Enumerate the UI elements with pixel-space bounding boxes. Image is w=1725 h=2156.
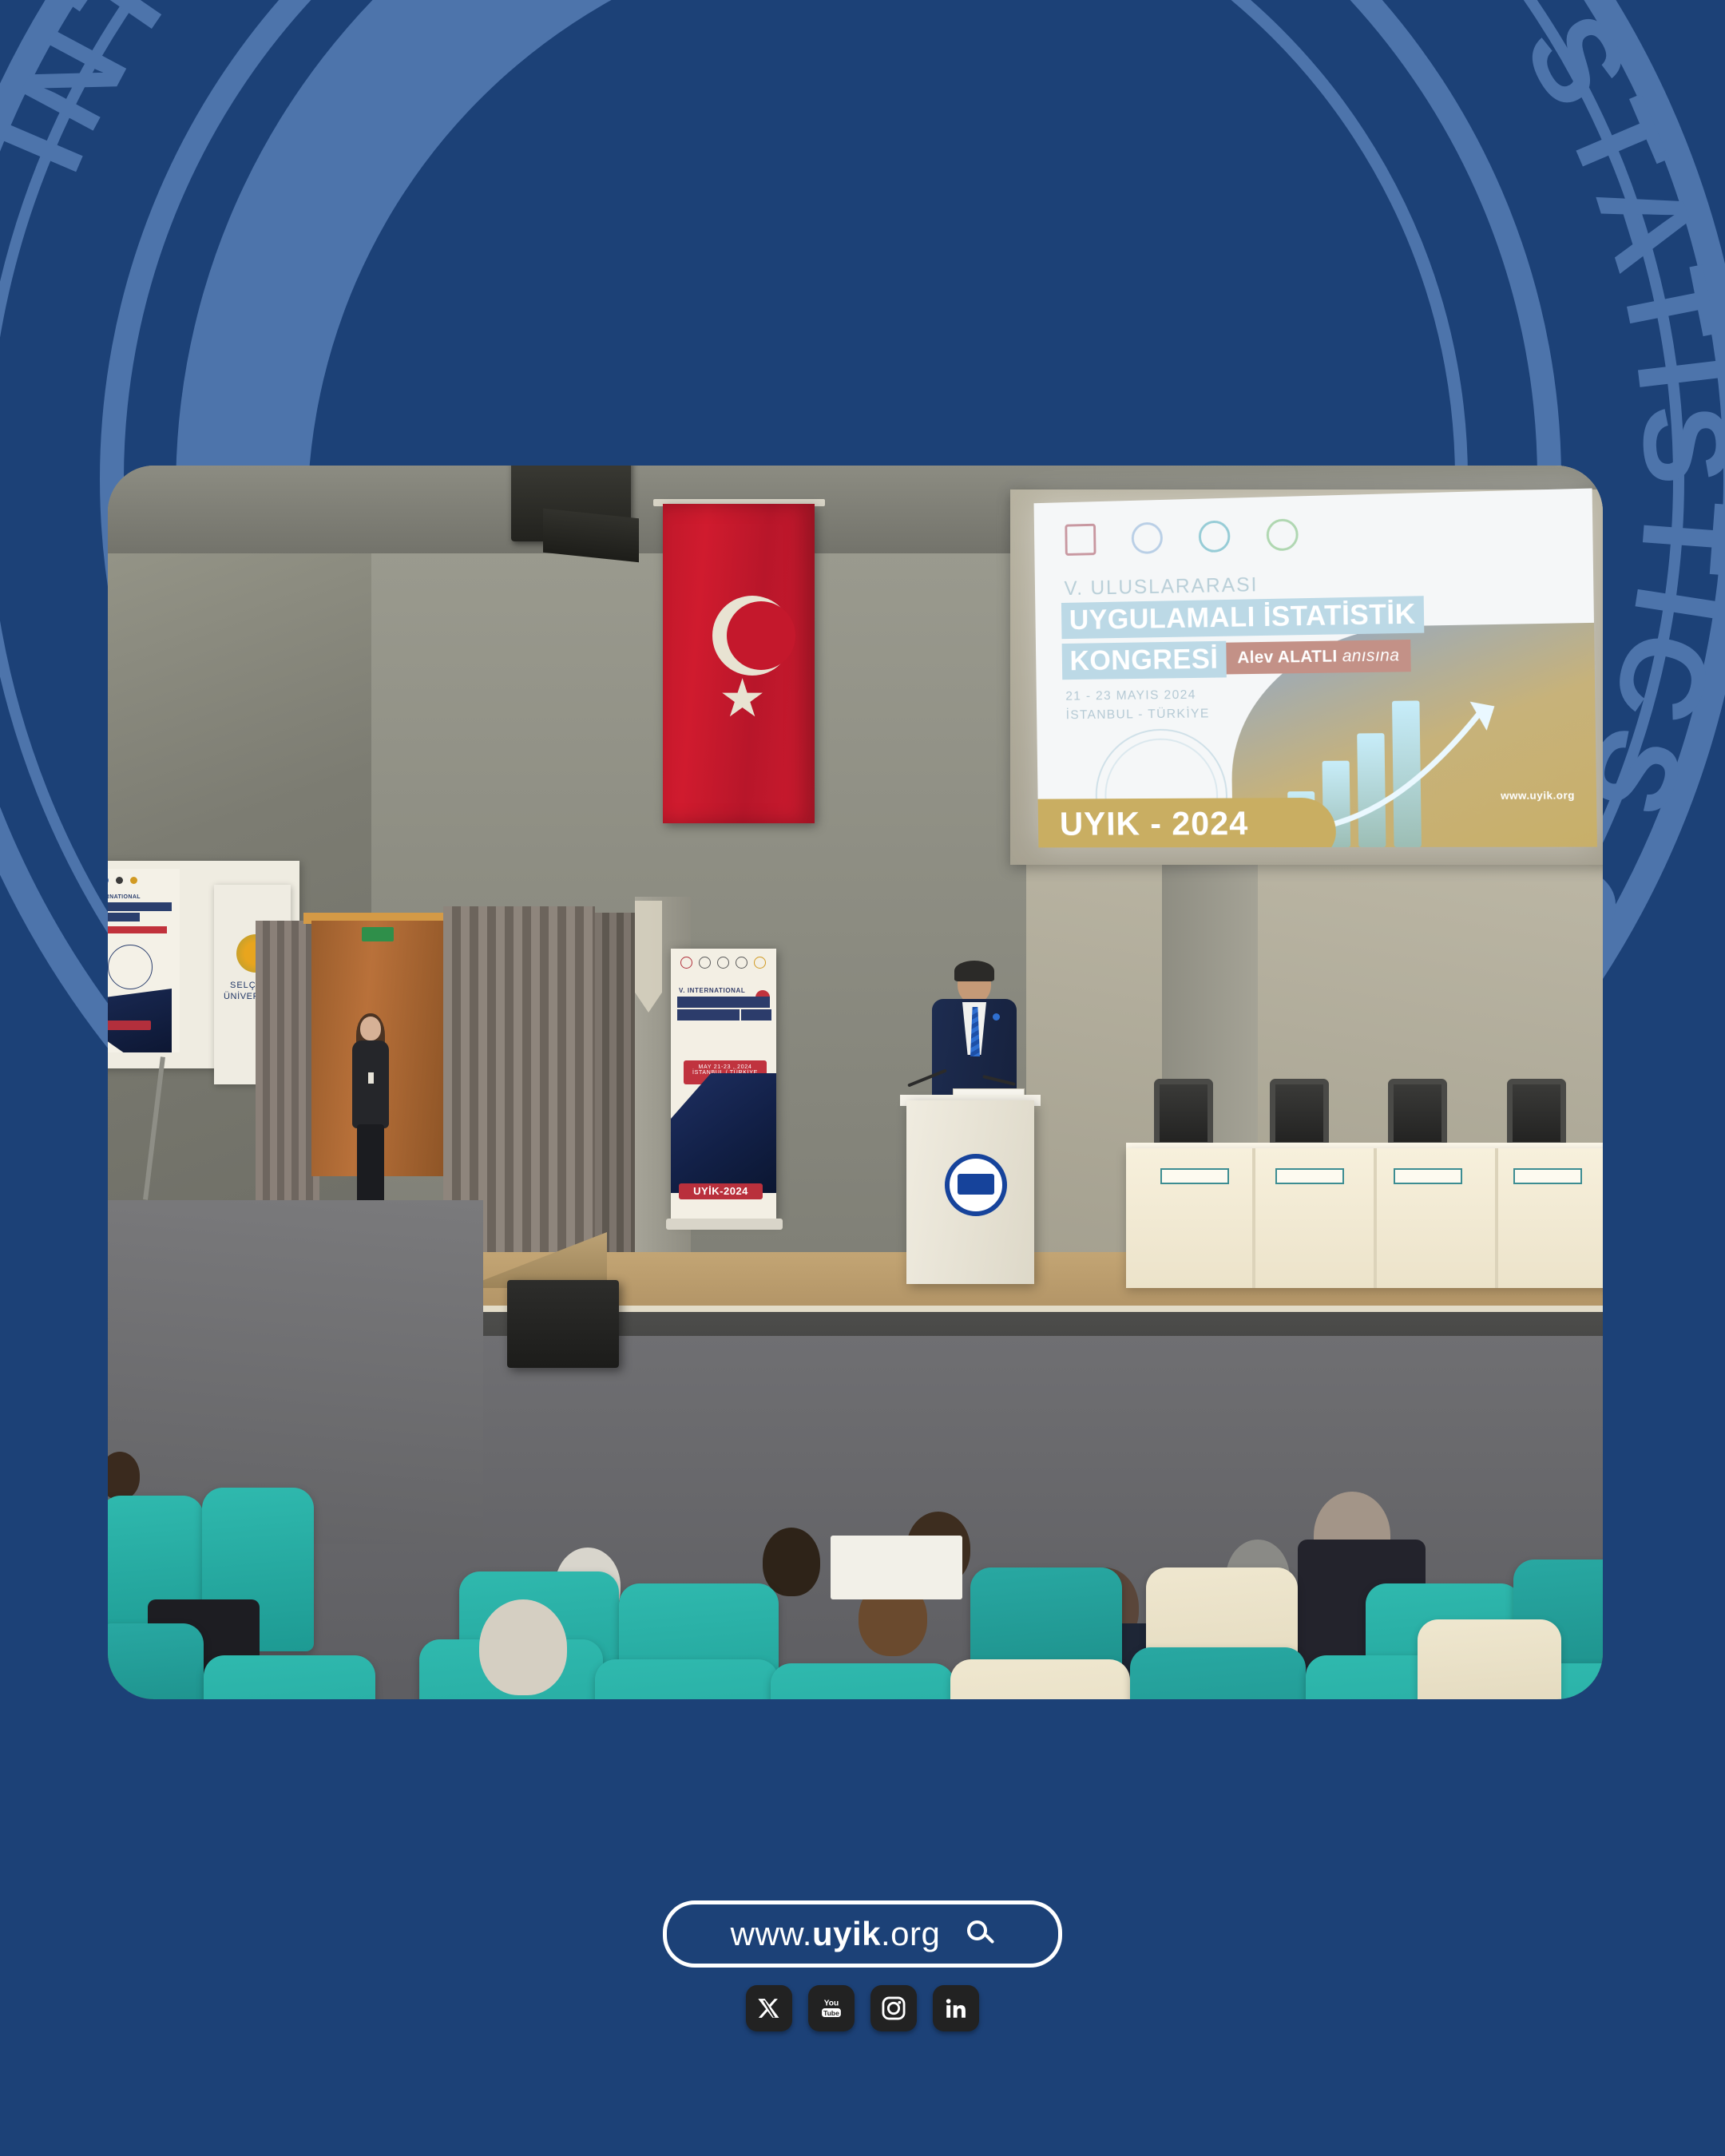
audience-head (507, 1583, 523, 1599)
audience-chair (950, 1659, 1130, 1699)
instagram-icon (881, 1995, 906, 2021)
sponsor-logo-2-icon (1132, 522, 1164, 554)
slide-memorial-bold: Alev ALATLI (1237, 647, 1338, 667)
social-links: You Tube (719, 1985, 1006, 2031)
slide-sponsor-logos (1065, 518, 1299, 556)
audience-head (479, 1599, 567, 1695)
sponsor-logo-1-icon (1065, 524, 1096, 556)
panel-nameplate-4 (1513, 1168, 1582, 1184)
congress-photo: ★ V. ULUSLARARASI UYGULAMALI İSTATİSTİK … (108, 466, 1603, 1699)
rollup-center-memorial (741, 1009, 771, 1021)
rollup-left-title1-bar (108, 902, 172, 911)
flag-crescent-inner (727, 601, 795, 670)
panel-nameplate-1 (1160, 1168, 1229, 1184)
page-footer: www.uyik.org You Tube (0, 1900, 1725, 2031)
social-link-x[interactable] (746, 1985, 792, 2031)
audience-chair (108, 1623, 204, 1699)
url-suffix: .org (881, 1915, 940, 1952)
panel-chair-2 (1270, 1079, 1329, 1147)
panel-divider-3 (1495, 1148, 1498, 1288)
social-link-linkedin[interactable] (933, 1985, 979, 2031)
youtube-icon: You Tube (818, 1995, 845, 2021)
social-link-youtube[interactable]: You Tube (808, 1985, 855, 2031)
speaker-lapel-pin-icon (993, 1013, 1000, 1021)
svg-text:Tube: Tube (823, 2009, 839, 2017)
url-brand: uyik (812, 1915, 881, 1952)
rollup-banner-center: V. INTERNATIONAL MAY 21-23 , 2024 İSTANB… (671, 949, 776, 1220)
projected-slide: V. ULUSLARARASI UYGULAMALI İSTATİSTİK KO… (1034, 489, 1597, 848)
search-icon[interactable] (967, 1920, 994, 1948)
url-prefix: www. (731, 1915, 812, 1952)
panel-divider-2 (1374, 1148, 1377, 1288)
audience-chair (1418, 1619, 1561, 1699)
slide-title-line1: UYGULAMALI İSTATİSTİK (1061, 596, 1424, 639)
website-url-text: www.uyik.org (731, 1915, 941, 1953)
audience-chair (771, 1663, 954, 1699)
exit-sign-icon (362, 927, 394, 941)
turkish-flag: ★ (663, 504, 815, 823)
attendee-jacket (352, 1040, 389, 1128)
slide-location: İSTANBUL - TÜRKİYE (1066, 704, 1210, 725)
attendee-head (360, 1017, 381, 1040)
slide-title-line2: KONGRESİ (1062, 641, 1227, 680)
audience-chair (1130, 1647, 1306, 1699)
audience-chair (204, 1655, 375, 1699)
speaker-hair (954, 961, 994, 981)
slide-footer-label: UYIK - 2024 (1060, 804, 1249, 842)
attendee-badge (368, 1072, 374, 1084)
stage-subwoofer (507, 1280, 619, 1368)
rollup-left-seal-icon (108, 945, 153, 989)
panel-chair-4 (1507, 1079, 1566, 1147)
panel-chair-3 (1388, 1079, 1447, 1147)
rollup-center-base (666, 1219, 783, 1230)
rollup-banner-left: V. INTERNATIONAL (108, 869, 180, 1052)
social-link-instagram[interactable] (870, 1985, 917, 2031)
rollup-center-graphic (671, 1073, 776, 1193)
website-url-button[interactable]: www.uyik.org (663, 1900, 1062, 1968)
audience-head (763, 1528, 820, 1596)
x-twitter-icon (757, 1996, 781, 2020)
flag-star-icon: ★ (719, 672, 766, 724)
slide-memorial-thin: anısına (1342, 646, 1400, 665)
slide-url: www.uyik.org (1501, 789, 1575, 802)
wall-pennant (635, 901, 662, 1013)
desk-laptop (831, 1536, 962, 1599)
panel-divider-1 (1252, 1148, 1255, 1288)
slide-date: 21 - 23 MAYIS 2024 (1065, 686, 1209, 707)
rollup-left-kicker: V. INTERNATIONAL (108, 894, 141, 900)
marmara-university-logo-icon (945, 1154, 1007, 1216)
slide-date-block: 21 - 23 MAYIS 2024 İSTANBUL - TÜRKİYE (1065, 686, 1210, 725)
audience-chair (595, 1659, 779, 1699)
linkedin-icon (944, 1996, 968, 2020)
rollup-center-footer-label: UYİK-2024 (679, 1183, 763, 1199)
panel-nameplate-3 (1394, 1168, 1462, 1184)
rollup-left-memorial-bar (108, 926, 167, 933)
rollup-center-title1 (677, 997, 770, 1008)
rollup-left-footer-chip (108, 1021, 151, 1030)
standing-attendee (347, 1017, 394, 1224)
svg-text:You: You (824, 1999, 839, 2008)
sponsor-logo-4-icon (1267, 518, 1299, 551)
rollup-center-kicker: V. INTERNATIONAL (679, 987, 745, 994)
panel-nameplate-2 (1275, 1168, 1344, 1184)
rollup-center-title2 (677, 1009, 740, 1021)
rollup-left-logos (108, 877, 137, 884)
slide-kicker: V. ULUSLARARASI (1064, 573, 1258, 600)
panel-chair-1 (1154, 1079, 1213, 1147)
rollup-left-title2-bar (108, 913, 140, 921)
sponsor-logo-3-icon (1199, 520, 1231, 553)
rollup-center-date: MAY 21-23 , 2024 (684, 1064, 767, 1070)
rollup-center-logos (680, 957, 766, 969)
slide-memorial-chip: Alev ALATLI anısına (1226, 640, 1410, 674)
